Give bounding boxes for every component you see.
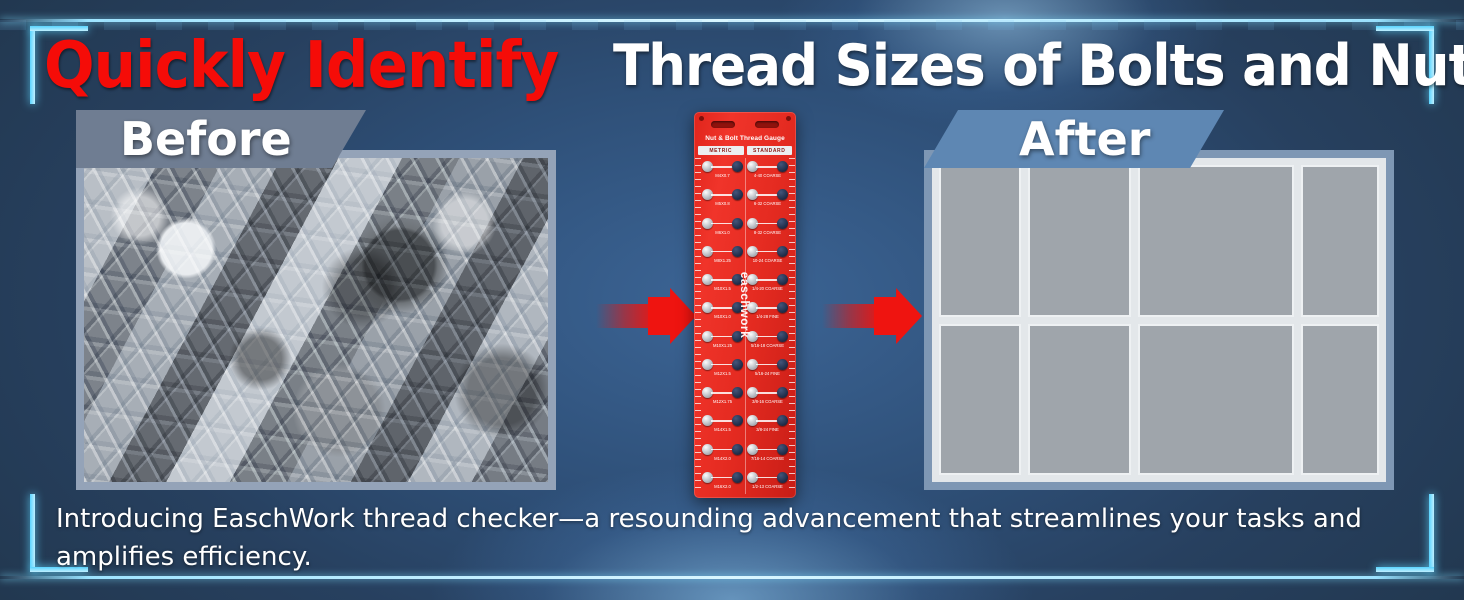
gauge-nut-hole [732, 189, 743, 200]
gauge-header-metric: METRIC [698, 146, 744, 155]
gauge-size-row: M8X1.25 [701, 243, 744, 269]
gauge-size-label: 10-24 COARSE [746, 258, 789, 263]
gauge-size-label: 8-32 COARSE [746, 230, 789, 235]
gauge-row-bar [711, 166, 734, 168]
gauge-nut-hole [777, 161, 788, 172]
case-cell [1138, 324, 1294, 476]
gauge-size-row: 8-32 COARSE [746, 215, 789, 241]
gauge-size-row: 4-40 COARSE [746, 158, 789, 184]
gauge-row-bar [756, 307, 779, 309]
gauge-size-label: M12X1.5 [701, 371, 744, 376]
case-cell [1301, 324, 1379, 476]
gauge-row-bar [711, 449, 734, 451]
gauge-row-bar [756, 392, 779, 394]
gauge-row-bar [756, 420, 779, 422]
before-label-ribbon: Before [76, 110, 366, 168]
gauge-size-label: M12X1.75 [701, 399, 744, 404]
gauge-row-bar [756, 477, 779, 479]
gauge-column-headers: METRIC STANDARD [698, 146, 792, 155]
gauge-row-bar [711, 307, 734, 309]
before-photo-frame [76, 150, 556, 490]
after-label-text: After [1019, 112, 1151, 166]
gauge-size-label: 5/16-24 FINE [746, 371, 789, 376]
gauge-size-label: M14X1.5 [701, 427, 744, 432]
gauge-row-bar [756, 364, 779, 366]
gauge-nut-hole [777, 359, 788, 370]
case-cell [1028, 165, 1131, 317]
gauge-nut-hole [777, 189, 788, 200]
gauge-size-row: 5/16-24 FINE [746, 356, 789, 382]
gauge-row-bar [711, 279, 734, 281]
arrow-right-icon [822, 288, 922, 344]
gauge-size-label: M6X1.0 [701, 230, 744, 235]
gauge-nut-hole [732, 472, 743, 483]
headline: Quickly Identify Thread Sizes of Bolts a… [44, 30, 1434, 102]
gauge-size-label: 7/16-14 COARSE [746, 456, 789, 461]
gauge-size-label: M4X0.7 [701, 173, 744, 178]
gauge-ruler-scale [789, 158, 795, 494]
after-photo-organized-case [932, 158, 1386, 482]
headline-accent: Quickly Identify [44, 34, 558, 98]
gauge-row-bar [711, 364, 734, 366]
before-label-text: Before [120, 112, 292, 166]
gauge-size-label: 4-40 COARSE [746, 173, 789, 178]
gauge-size-row: 5/16-18 COARSE [746, 328, 789, 354]
gauge-size-row: M5X0.8 [701, 186, 744, 212]
gauge-row-bar [756, 449, 779, 451]
product-banner: Quickly Identify Thread Sizes of Bolts a… [0, 0, 1464, 600]
gauge-standard-column: 4-40 COARSE6-32 COARSE8-32 COARSE10-24 C… [746, 158, 789, 495]
gauge-nut-hole [777, 387, 788, 398]
headline-rest: Thread Sizes of Bolts and Nuts [613, 34, 1464, 98]
gauge-nut-hole [777, 415, 788, 426]
gauge-size-row: 3/8-24 FINE [746, 412, 789, 438]
arrow-right-icon [596, 288, 696, 344]
gauge-nut-hole [777, 302, 788, 313]
gauge-size-row: 10-24 COARSE [746, 243, 789, 269]
gauge-row-bar [711, 392, 734, 394]
gauge-nut-hole [777, 218, 788, 229]
gauge-title: Nut & Bolt Thread Gauge [694, 135, 796, 142]
gauge-size-label: 3/8-24 FINE [746, 427, 789, 432]
gauge-row-bar [756, 251, 779, 253]
gauge-nut-hole [732, 415, 743, 426]
gauge-size-row: M14X2.0 [701, 441, 744, 467]
case-cell [939, 324, 1021, 476]
gauge-nut-hole [732, 444, 743, 455]
gauge-size-row: 1/2-13 COARSE [746, 469, 789, 495]
gauge-size-row: 3/8-16 COARSE [746, 384, 789, 410]
gauge-size-row: 1/4-28 FINE [746, 299, 789, 325]
after-label-ribbon: After [924, 110, 1224, 168]
gauge-size-label: 5/16-18 COARSE [746, 343, 789, 348]
gauge-screw-hole [699, 116, 704, 121]
gauge-nut-hole [777, 331, 788, 342]
gauge-row-bar [756, 336, 779, 338]
gauge-size-label: M8X1.25 [701, 258, 744, 263]
gauge-header-standard: STANDARD [747, 146, 793, 155]
gauge-size-label: 6-32 COARSE [746, 201, 789, 206]
gauge-size-row: M6X1.0 [701, 215, 744, 241]
gauge-brand-label: easchwork [738, 272, 752, 339]
gauge-row-bar [711, 336, 734, 338]
gauge-row-bar [711, 477, 734, 479]
gauge-row-bar [756, 166, 779, 168]
gauge-size-row: M14X1.5 [701, 412, 744, 438]
case-cell [939, 165, 1021, 317]
gauge-size-row: 1/4-20 COARSE [746, 271, 789, 297]
gauge-hang-slot [755, 121, 779, 128]
gauge-size-label: 1/2-13 COARSE [746, 484, 789, 489]
gauge-size-row: M12X1.5 [701, 356, 744, 382]
gauge-row-bar [756, 194, 779, 196]
gauge-size-row: M16X2.0 [701, 469, 744, 495]
gauge-row-bar [711, 223, 734, 225]
gauge-nut-hole [777, 472, 788, 483]
gauge-row-bar [711, 420, 734, 422]
gauge-size-label: 3/8-16 COARSE [746, 399, 789, 404]
gauge-nut-hole [732, 387, 743, 398]
gauge-row-bar [756, 223, 779, 225]
gauge-size-label: 1/4-20 COARSE [746, 286, 789, 291]
before-photo-jumbled-fasteners [84, 158, 548, 482]
gauge-size-row: M4X0.7 [701, 158, 744, 184]
gauge-size-label: M16X2.0 [701, 484, 744, 489]
gauge-screw-hole [786, 116, 791, 121]
storage-case-grid [932, 158, 1386, 482]
gauge-size-label: M14X2.0 [701, 456, 744, 461]
gauge-nut-hole [732, 246, 743, 257]
gauge-size-row: 7/16-14 COARSE [746, 441, 789, 467]
gauge-row-bar [711, 194, 734, 196]
gauge-nut-hole [732, 359, 743, 370]
gauge-size-label: M10X1.25 [701, 343, 744, 348]
gauge-size-row: 6-32 COARSE [746, 186, 789, 212]
case-cell [1138, 165, 1294, 317]
gauge-row-bar [711, 251, 734, 253]
gauge-nut-hole [732, 161, 743, 172]
case-cell [1028, 324, 1131, 476]
gauge-nut-hole [732, 218, 743, 229]
gauge-size-row: M12X1.75 [701, 384, 744, 410]
gauge-row-bar [756, 279, 779, 281]
gauge-size-label: 1/4-28 FINE [746, 314, 789, 319]
gauge-nut-hole [777, 444, 788, 455]
after-photo-frame [924, 150, 1394, 490]
gauge-nut-hole [777, 274, 788, 285]
gauge-size-label: M5X0.8 [701, 201, 744, 206]
thread-gauge-product: Nut & Bolt Thread Gauge METRIC STANDARD … [694, 112, 796, 498]
case-cell [1301, 165, 1379, 317]
gauge-nut-hole [777, 246, 788, 257]
gauge-hang-slot [711, 121, 735, 128]
top-accent-line [0, 18, 1464, 23]
caption-text: Introducing EaschWork thread checker—a r… [56, 500, 1416, 576]
